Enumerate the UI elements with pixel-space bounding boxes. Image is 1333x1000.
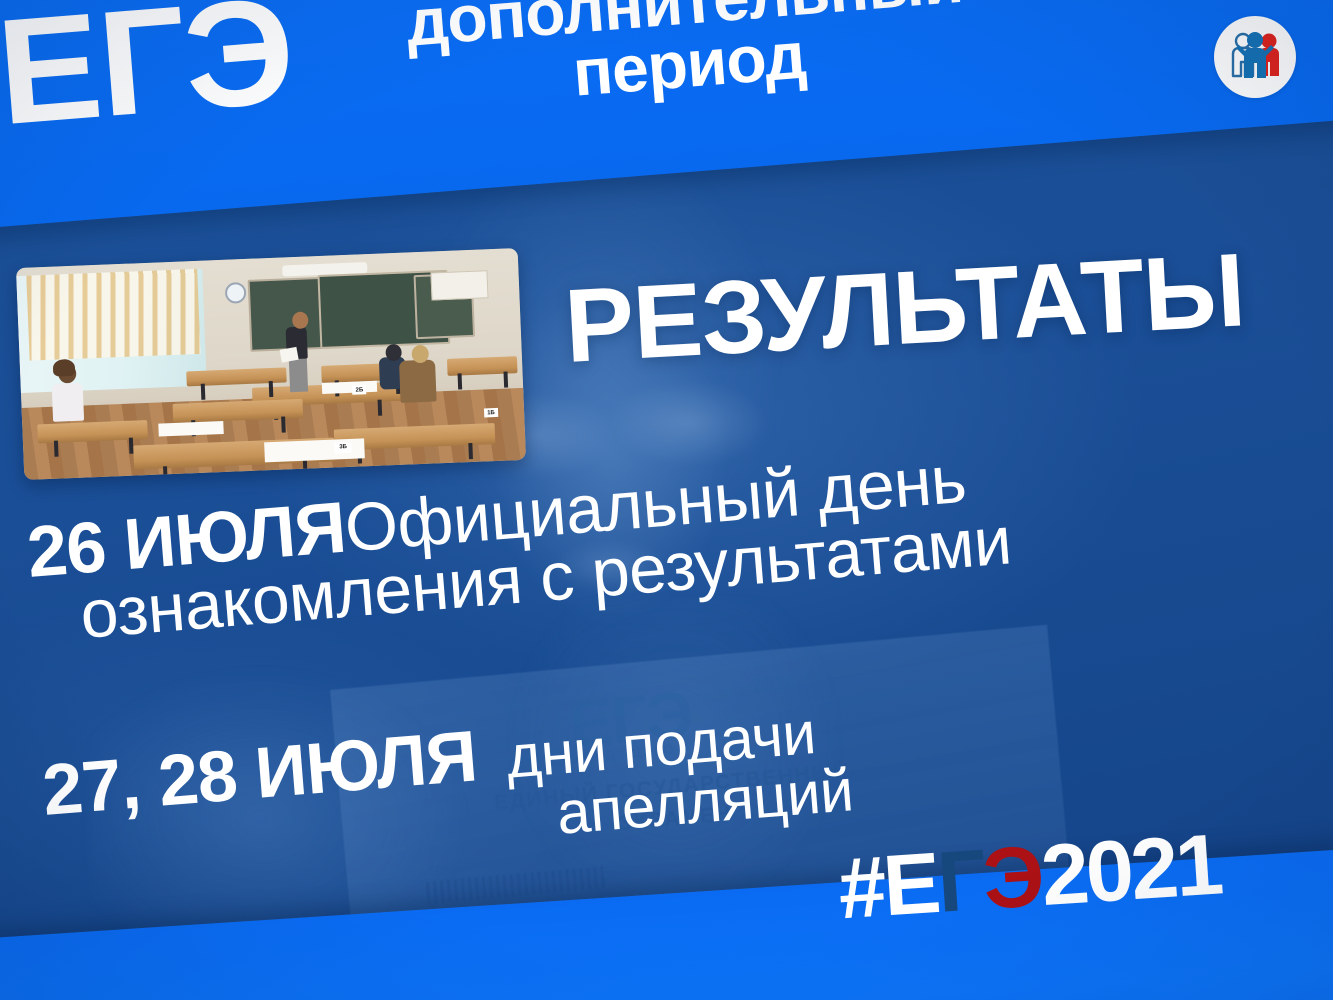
photo-student [399,360,437,403]
photo-teacher [292,312,309,330]
photo-desk [447,356,518,376]
photo-blinds [26,269,200,361]
photo-seat-number: 1Б [484,408,498,418]
hashtag-prefix: #Е [835,835,940,937]
photo-desk [186,368,287,387]
ghost-form-barcode [426,866,607,904]
poster-canvas: ЕГЭ 2016 В ВЫБОРЕ БУДУЩЕГО ЕДИНЫЙ ГОСУДА… [0,0,1333,1000]
photo-seat-number: 2Б [352,386,366,396]
hashtag-letter-g: Г [934,832,986,931]
hashtag-ege-2021: #ЕГЭ2021 [836,822,1223,933]
rosobrnadzor-logo-icon [1214,16,1296,98]
ghost-form-field-subject: Литература [746,843,812,861]
photo-wall-poster [431,270,489,300]
ghost-form-field-code: Код [428,862,450,876]
hashtag-year: 2021 [1038,817,1223,925]
classroom-photo: 3Б 2Б 1Б [16,248,526,480]
hashtag-letter-e: Э [980,828,1044,928]
photo-student [53,359,76,377]
photo-exam-paper [158,421,224,436]
photo-student [52,382,85,421]
photo-exam-paper [322,381,378,394]
ege-logo-text: ЕГЭ [0,0,297,134]
photo-teacher [289,356,308,392]
photo-desk [37,420,148,443]
photo-seat-number: 3Б [334,441,351,453]
photo-desk [172,399,303,423]
header-subtitle: дополнительный период [323,0,1051,125]
